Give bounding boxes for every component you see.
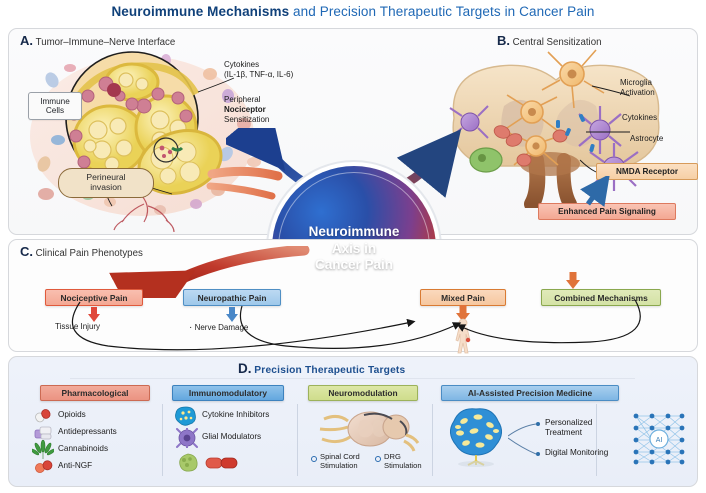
pharm-item-1-label: Antidepressants <box>58 427 117 436</box>
ai-item-1-label: Digital Monitoring <box>545 448 608 458</box>
neuro-item-0-label: Spinal Cord Stimulation <box>320 453 360 471</box>
perineural-invasion-label: Perineural invasion <box>58 168 154 198</box>
nociceptor-sensitization-label: Peripheral Nociceptor Sensitization <box>224 95 269 124</box>
immunomodulatory-header[interactable]: Immunomodulatory <box>172 385 284 401</box>
column-divider-1 <box>162 404 163 476</box>
panel-b-letter: B. <box>497 33 510 48</box>
immuno-item-1-label: Glial Modulators <box>202 432 261 441</box>
nociceptor-line3: Sensitization <box>224 115 269 125</box>
immuno-item-0-label: Cytokine Inhibitors <box>202 410 269 419</box>
neuromodulation-header[interactable]: Neuromodulation <box>308 385 418 401</box>
title-rest-part: and Precision Therapeutic Targets in Can… <box>289 4 594 19</box>
panel-d-title: Precision Therapeutic Targets <box>254 365 405 376</box>
column-divider-4 <box>596 404 597 476</box>
drg-bullet-icon <box>375 456 381 462</box>
figure-title: Neuroimmune Mechanisms and Precision The… <box>0 4 706 19</box>
microglia-activation-label: Microglia Activation <box>620 78 655 98</box>
nociceptor-line2: Nociceptor <box>224 105 269 115</box>
astrocyte-label: Astrocyte <box>630 134 663 144</box>
column-divider-2 <box>297 404 298 476</box>
panel-d-label: D. Precision Therapeutic Targets <box>238 361 405 376</box>
panel-a-label: A. Tumor–Immune–Nerve Interface <box>20 33 175 48</box>
personalized-treatment-text: Personalized Treatment <box>545 418 592 438</box>
panel-a-title: Tumor–Immune–Nerve Interface <box>36 37 176 48</box>
panel-b-title: Central Sensitization <box>513 37 602 48</box>
neuropathic-pain-box[interactable]: Neuropathic Pain <box>183 289 281 306</box>
nociceptive-pain-box[interactable]: Nociceptive Pain <box>45 289 143 306</box>
figure-canvas: Neuroimmune Mechanisms and Precision The… <box>0 0 706 493</box>
title-bold-part: Neuroimmune Mechanisms <box>111 4 289 19</box>
nociceptor-line1: Peripheral <box>224 95 269 105</box>
immune-cells-label: Immune Cells <box>28 92 82 120</box>
ai-assisted-header[interactable]: AI-Assisted Precision Medicine <box>441 385 619 401</box>
center-text: Neuroimmune Axis in Cancer Pain <box>309 222 400 273</box>
panel-d-divider <box>70 378 635 379</box>
nerve-damage-label: · Nerve Damage <box>189 322 248 333</box>
enhanced-pain-signaling-box: Enhanced Pain Signaling <box>538 203 676 220</box>
pharm-item-0-label: Opioids <box>58 410 86 419</box>
microglia-line1: Microglia <box>620 78 655 88</box>
pharmacological-header[interactable]: Pharmacological <box>40 385 150 401</box>
center-line2: Axis in <box>309 241 400 257</box>
tissue-injury-label: Tissue Injury <box>55 322 100 331</box>
pharm-item-3-label: Anti-NGF <box>58 461 92 470</box>
cytokines-label-b: Cytokines <box>622 113 657 123</box>
panel-c-label: C. Clinical Pain Phenotypes <box>20 244 143 259</box>
cytokines-label-a: Cytokines (IL-1β, TNF-α, IL-6) <box>224 60 293 80</box>
nmda-receptor-box: NMDA Receptor <box>596 163 698 180</box>
cytokines-line2: (IL-1β, TNF-α, IL-6) <box>224 70 293 80</box>
panel-c-title: Clinical Pain Phenotypes <box>36 248 143 259</box>
center-line1: Neuroimmune <box>309 224 400 240</box>
combined-mechanisms-box[interactable]: Combined Mechanisms <box>541 289 661 306</box>
neuro-item-1-label: DRG Stimulation <box>384 453 422 471</box>
spinal-cord-bullet-icon <box>311 456 317 462</box>
ai-item-0-label: Personalized Treatment <box>545 418 592 438</box>
column-divider-3 <box>432 404 433 476</box>
panel-a-letter: A. <box>20 33 33 48</box>
panel-c-letter: C. <box>20 244 33 259</box>
panel-d-letter: D. <box>238 361 252 376</box>
pharm-item-2-label: Cannabinoids <box>58 444 108 453</box>
cytokines-line1: Cytokines <box>224 60 293 70</box>
microglia-line2: Activation <box>620 88 655 98</box>
panel-b-label: B. Central Sensitization <box>497 33 602 48</box>
nerve-damage-text: Nerve Damage <box>195 323 249 332</box>
mixed-pain-box[interactable]: Mixed Pain <box>420 289 506 306</box>
center-line3: Cancer Pain <box>309 257 400 273</box>
